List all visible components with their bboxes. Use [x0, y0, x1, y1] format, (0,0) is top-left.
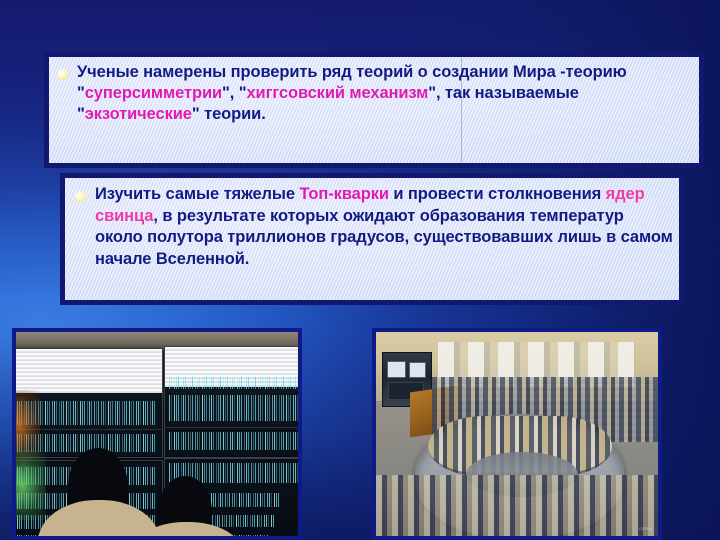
ambient-light-green [16, 450, 46, 520]
rack-screen [409, 362, 426, 378]
bullet-paragraph-1: Ученые намерены проверить ряд теорий о с… [57, 62, 693, 125]
run-2-1: Топ-кварки [299, 185, 388, 203]
paragraph-1-text: Ученые намерены проверить ряд теорий о с… [77, 62, 693, 125]
run-1-6: " теории. [192, 105, 266, 123]
waveform-trace [169, 432, 298, 450]
bullet-point-icon [57, 69, 68, 80]
run-1-1: суперсимметрии [85, 84, 222, 102]
run-2-2: и провести столкновения [389, 185, 606, 203]
monitor-panel [164, 346, 298, 458]
run-1-5: экзотические [85, 105, 192, 123]
crowd-foreground [376, 475, 658, 536]
waveform-trace [206, 493, 280, 507]
bullet-paragraph-2: Изучить самые тяжелые Топ-кварки и прове… [75, 184, 673, 270]
waveform-trace [169, 395, 298, 421]
rack-screen [387, 361, 405, 378]
text-block-1: Ученые намерены проверить ряд теорий о с… [44, 52, 704, 168]
text-block-2: Изучить самые тяжелые Топ-кварки и прове… [60, 173, 684, 305]
bullet-point-icon [75, 191, 86, 202]
photo-right-content: CERN [376, 332, 658, 536]
monitor-text-region [16, 349, 162, 393]
run-2-4: , в результате которых ожидают образован… [95, 207, 673, 268]
waveform-trace [169, 377, 298, 389]
run-1-3: хиггсовский механизм [246, 84, 428, 102]
run-2-0: Изучить самые тяжелые [95, 185, 299, 203]
monitor-row [165, 427, 298, 454]
paragraph-2-text: Изучить самые тяжелые Топ-кварки и прове… [95, 184, 673, 270]
presentation-slide: Ученые намерены проверить ряд теорий о с… [0, 0, 720, 540]
photo-control-room-monitors [12, 328, 302, 540]
photo-control-room-aerial: CERN [372, 328, 662, 540]
photo-watermark: CERN [639, 526, 652, 531]
run-1-2: ", " [222, 84, 246, 102]
photo-left-content [16, 332, 298, 536]
